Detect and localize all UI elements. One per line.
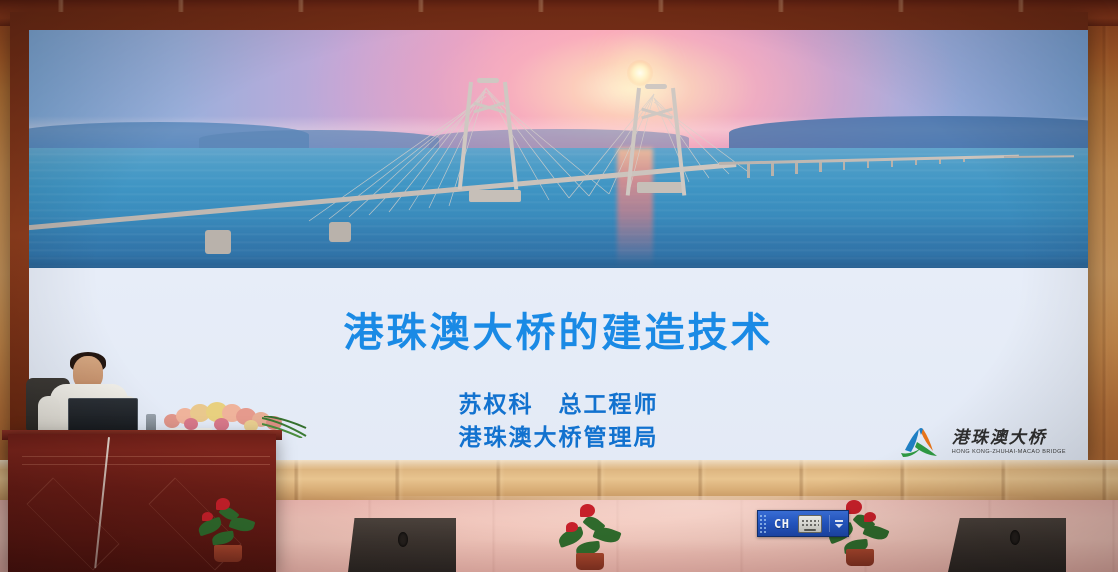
stage-monitor-speaker: [948, 518, 1066, 572]
ime-language-bar[interactable]: CH: [757, 510, 849, 537]
ime-drag-handle[interactable]: [759, 514, 767, 533]
hzmb-logo-cn: 港珠澳大桥: [952, 430, 1066, 447]
keyboard-icon[interactable]: [798, 515, 822, 533]
stage-monitor-speaker: [348, 518, 456, 572]
ime-language-label[interactable]: CH: [769, 517, 794, 531]
slide-photo: [29, 30, 1088, 268]
projection-screen-frame: 港珠澳大桥的建造技术 苏权科 总工程师 港珠澳大桥管理局: [10, 12, 1088, 460]
potted-plant: [186, 492, 270, 562]
bridge-pier: [329, 222, 351, 242]
ime-window-buttons[interactable]: [833, 513, 846, 534]
pylon-cap: [645, 84, 667, 89]
bridge-pier: [205, 230, 231, 254]
chevron-down-icon[interactable]: [835, 524, 843, 528]
pylon-base: [469, 190, 521, 202]
photo-bottom-fade: [29, 254, 1088, 268]
pylon-base: [637, 182, 683, 193]
bridge-pier: [795, 162, 798, 174]
bridge-cables: [29, 30, 1088, 268]
hzmb-logo-text: 港珠澳大桥 HONG KONG-ZHUHAI-MACAO BRIDGE: [952, 430, 1066, 456]
ime-minimize-icon[interactable]: [835, 520, 843, 522]
potted-plant: [548, 500, 632, 570]
hzmb-logo: 港珠澳大桥 HONG KONG-ZHUHAI-MACAO BRIDGE: [899, 426, 1066, 460]
bridge-pier: [747, 164, 750, 178]
hzmb-logo-mark-icon: [899, 426, 945, 460]
slide-title: 港珠澳大桥的建造技术: [29, 300, 1088, 358]
hzmb-logo-en: HONG KONG-ZHUHAI-MACAO BRIDGE: [952, 450, 1066, 456]
bridge-pier: [819, 161, 822, 172]
pylon-cap: [477, 78, 499, 83]
auditorium-scene: 港珠澳大桥的建造技术 苏权科 总工程师 港珠澳大桥管理局: [0, 0, 1118, 572]
ime-separator: [829, 515, 830, 532]
bridge-pier: [771, 163, 774, 176]
